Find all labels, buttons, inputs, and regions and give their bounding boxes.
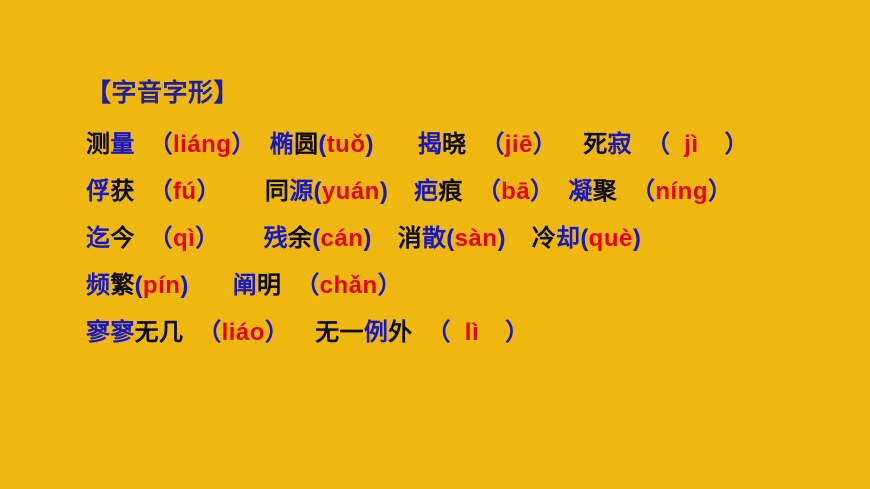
open-paren: （ xyxy=(480,131,504,158)
open-paren: （ xyxy=(149,131,173,158)
entry-character: 外 xyxy=(388,319,412,346)
open-paren: （ xyxy=(646,131,670,158)
entry-pinyin: liáng xyxy=(173,131,232,158)
entry-pinyin: liáo xyxy=(222,319,265,346)
entry-character: 晓 xyxy=(442,131,466,158)
entry-character: 寥 xyxy=(110,319,134,346)
vocabulary-line: 迄今（qì）残余(cán)消散(sàn)冷却(què) xyxy=(86,215,852,262)
vocabulary-entry: 残余(cán) xyxy=(264,225,372,252)
open-paren: ( xyxy=(312,225,320,252)
entry-character: 繁 xyxy=(110,272,134,299)
entry-word: 阐明 xyxy=(233,272,282,299)
entry-pinyin: lì xyxy=(465,319,479,346)
vocabulary-entry: 死寂（jì） xyxy=(583,131,749,158)
entry-pinyin: jì xyxy=(684,131,698,158)
entry-word: 同源 xyxy=(265,178,314,205)
entry-pinyin: bā xyxy=(501,178,530,205)
vocabulary-line: 测量（liáng）椭圆(tuǒ)揭晓（jiē）死寂（jì） xyxy=(86,121,852,168)
open-paren: ( xyxy=(135,272,143,299)
close-paren: ) xyxy=(366,131,374,158)
entry-character: 冷 xyxy=(532,225,556,252)
entry-character: 明 xyxy=(257,272,281,299)
entry-character: 寥 xyxy=(86,319,110,346)
entry-character: 无 xyxy=(315,319,339,346)
entry-character: 一 xyxy=(340,319,364,346)
entry-word: 测量 xyxy=(86,131,135,158)
close-paren: ） xyxy=(265,319,289,346)
entry-character: 阐 xyxy=(233,272,257,299)
vocabulary-entry: 频繁(pín) xyxy=(86,272,189,299)
entry-word: 死寂 xyxy=(583,131,632,158)
entry-pinyin: chǎn xyxy=(320,272,378,299)
slide-canvas: 【字音字形】 测量（liáng）椭圆(tuǒ)揭晓（jiē）死寂（jì）俘获（f… xyxy=(0,0,870,489)
entry-pinyin: níng xyxy=(655,178,708,205)
entry-character: 无 xyxy=(135,319,159,346)
vocabulary-line: 频繁(pín)阐明（chǎn） xyxy=(86,262,852,309)
open-paren: （ xyxy=(149,225,173,252)
vocabulary-entry: 无一例外（lì） xyxy=(315,319,529,346)
entry-character: 残 xyxy=(264,225,288,252)
entry-pinyin: pín xyxy=(143,272,181,299)
close-paren: ) xyxy=(363,225,371,252)
entry-pinyin: yuán xyxy=(322,178,380,205)
entry-word: 冷却 xyxy=(532,225,581,252)
entry-character: 源 xyxy=(289,178,313,205)
open-paren: （ xyxy=(631,178,655,205)
close-paren: ） xyxy=(505,319,529,346)
entry-character: 圆 xyxy=(294,131,318,158)
open-paren: （ xyxy=(197,319,221,346)
close-paren: ) xyxy=(633,225,641,252)
entry-character: 几 xyxy=(159,319,183,346)
close-paren: ) xyxy=(180,272,188,299)
vocabulary-entry: 俘获（fú） xyxy=(86,178,221,205)
vocabulary-entry: 寥寥无几（liáo） xyxy=(86,319,289,346)
entry-character: 获 xyxy=(110,178,134,205)
entry-pinyin: qì xyxy=(173,225,195,252)
open-paren: ( xyxy=(318,131,326,158)
open-paren: （ xyxy=(477,178,501,205)
vocabulary-entry: 冷却(què) xyxy=(532,225,641,252)
close-paren: ） xyxy=(530,178,554,205)
entry-word: 消散 xyxy=(398,225,447,252)
entry-pinyin: tuǒ xyxy=(327,131,366,158)
entry-character: 疤 xyxy=(414,178,438,205)
close-paren: ） xyxy=(708,178,732,205)
entry-word: 凝聚 xyxy=(568,178,617,205)
entry-character: 凝 xyxy=(568,178,592,205)
entry-character: 迄 xyxy=(86,225,110,252)
entry-character: 聚 xyxy=(593,178,617,205)
entry-pinyin: fú xyxy=(173,178,197,205)
entry-word: 揭晓 xyxy=(418,131,467,158)
entry-character: 测 xyxy=(86,131,110,158)
entry-character: 频 xyxy=(86,272,110,299)
vocabulary-line: 寥寥无几（liáo）无一例外（lì） xyxy=(86,309,852,356)
entry-character: 死 xyxy=(583,131,607,158)
vocabulary-entry: 椭圆(tuǒ) xyxy=(270,131,374,158)
close-paren: ） xyxy=(533,131,557,158)
close-paren: ） xyxy=(195,225,219,252)
slide-content: 【字音字形】 测量（liáng）椭圆(tuǒ)揭晓（jiē）死寂（jì）俘获（f… xyxy=(86,78,852,356)
open-paren: ( xyxy=(314,178,322,205)
entry-character: 痕 xyxy=(438,178,462,205)
close-paren: ） xyxy=(231,131,255,158)
open-paren: （ xyxy=(426,319,450,346)
entry-character: 寂 xyxy=(608,131,632,158)
entry-character: 揭 xyxy=(418,131,442,158)
entry-word: 寥寥无几 xyxy=(86,319,183,346)
close-paren: ） xyxy=(378,272,402,299)
entry-character: 例 xyxy=(364,319,388,346)
entry-character: 同 xyxy=(265,178,289,205)
entry-character: 量 xyxy=(110,131,134,158)
entry-character: 余 xyxy=(288,225,312,252)
close-paren: ） xyxy=(197,178,221,205)
open-paren: ( xyxy=(446,225,454,252)
entry-character: 却 xyxy=(556,225,580,252)
entry-character: 椭 xyxy=(270,131,294,158)
entry-character: 消 xyxy=(398,225,422,252)
open-paren: （ xyxy=(149,178,173,205)
entry-word: 俘获 xyxy=(86,178,135,205)
open-paren: ( xyxy=(580,225,588,252)
entry-character: 今 xyxy=(110,225,134,252)
vocabulary-entry: 揭晓（jiē） xyxy=(418,131,557,158)
entry-word: 无一例外 xyxy=(315,319,412,346)
vocabulary-list: 测量（liáng）椭圆(tuǒ)揭晓（jiē）死寂（jì）俘获（fú）同源(yu… xyxy=(86,121,852,356)
vocabulary-entry: 同源(yuán) xyxy=(265,178,388,205)
entry-character: 散 xyxy=(422,225,446,252)
vocabulary-line: 俘获（fú）同源(yuán)疤痕（bā）凝聚（níng） xyxy=(86,168,852,215)
page-title: 【字音字形】 xyxy=(86,78,852,109)
entry-word: 椭圆 xyxy=(270,131,319,158)
entry-word: 频繁 xyxy=(86,272,135,299)
entry-pinyin: jiē xyxy=(505,131,533,158)
vocabulary-entry: 测量（liáng） xyxy=(86,131,256,158)
vocabulary-entry: 迄今（qì） xyxy=(86,225,220,252)
close-paren: ） xyxy=(725,131,749,158)
close-paren: ) xyxy=(380,178,388,205)
entry-pinyin: cán xyxy=(321,225,364,252)
open-paren: （ xyxy=(295,272,319,299)
vocabulary-entry: 阐明（chǎn） xyxy=(233,272,402,299)
vocabulary-entry: 消散(sàn) xyxy=(398,225,506,252)
entry-pinyin: sàn xyxy=(455,225,498,252)
entry-word: 疤痕 xyxy=(414,178,463,205)
close-paren: ) xyxy=(497,225,505,252)
entry-character: 俘 xyxy=(86,178,110,205)
entry-word: 残余 xyxy=(264,225,313,252)
entry-pinyin: què xyxy=(589,225,633,252)
vocabulary-entry: 凝聚（níng） xyxy=(568,178,732,205)
vocabulary-entry: 疤痕（bā） xyxy=(414,178,554,205)
entry-word: 迄今 xyxy=(86,225,135,252)
